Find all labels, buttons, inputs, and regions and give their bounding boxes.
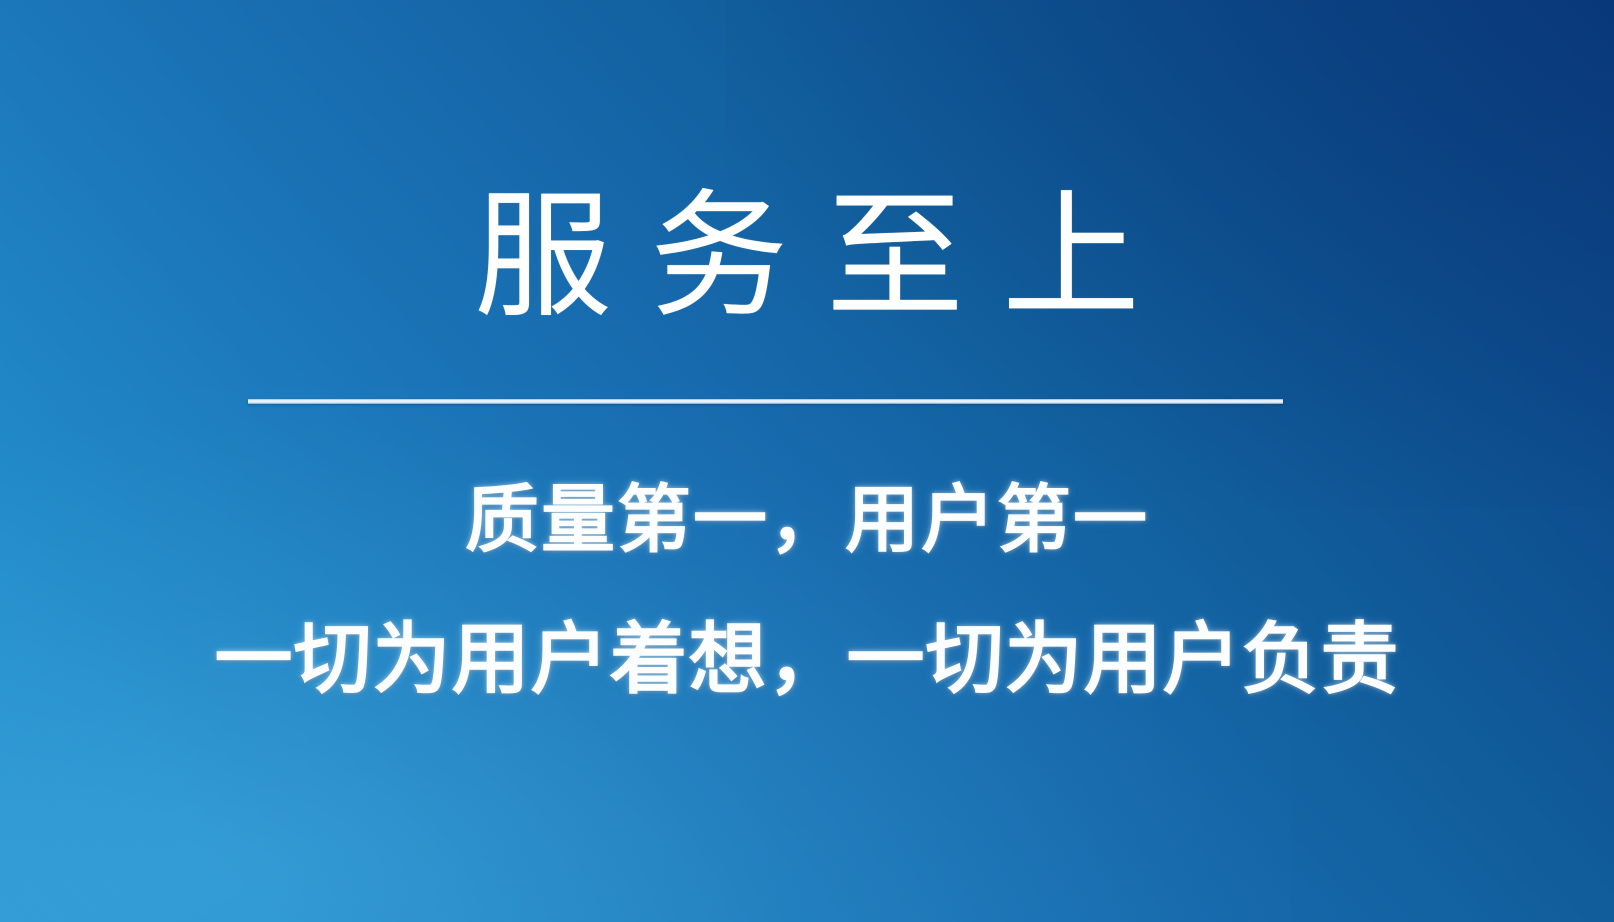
subtitle-line-2: 一切为用户着想，一切为用户负责 — [0, 588, 1614, 732]
subtitle-line-1: 质量第一，用户第一 — [0, 452, 1614, 588]
slogan-banner: 服务至上 质量第一，用户第一 一切为用户着想，一切为用户负责 — [0, 0, 1614, 922]
headline-divider — [248, 399, 1283, 404]
banner-subtitle: 质量第一，用户第一 一切为用户着想，一切为用户负责 — [0, 452, 1614, 732]
banner-content: 服务至上 质量第一，用户第一 一切为用户着想，一切为用户负责 — [0, 0, 1614, 922]
banner-headline: 服务至上 — [0, 186, 1614, 330]
